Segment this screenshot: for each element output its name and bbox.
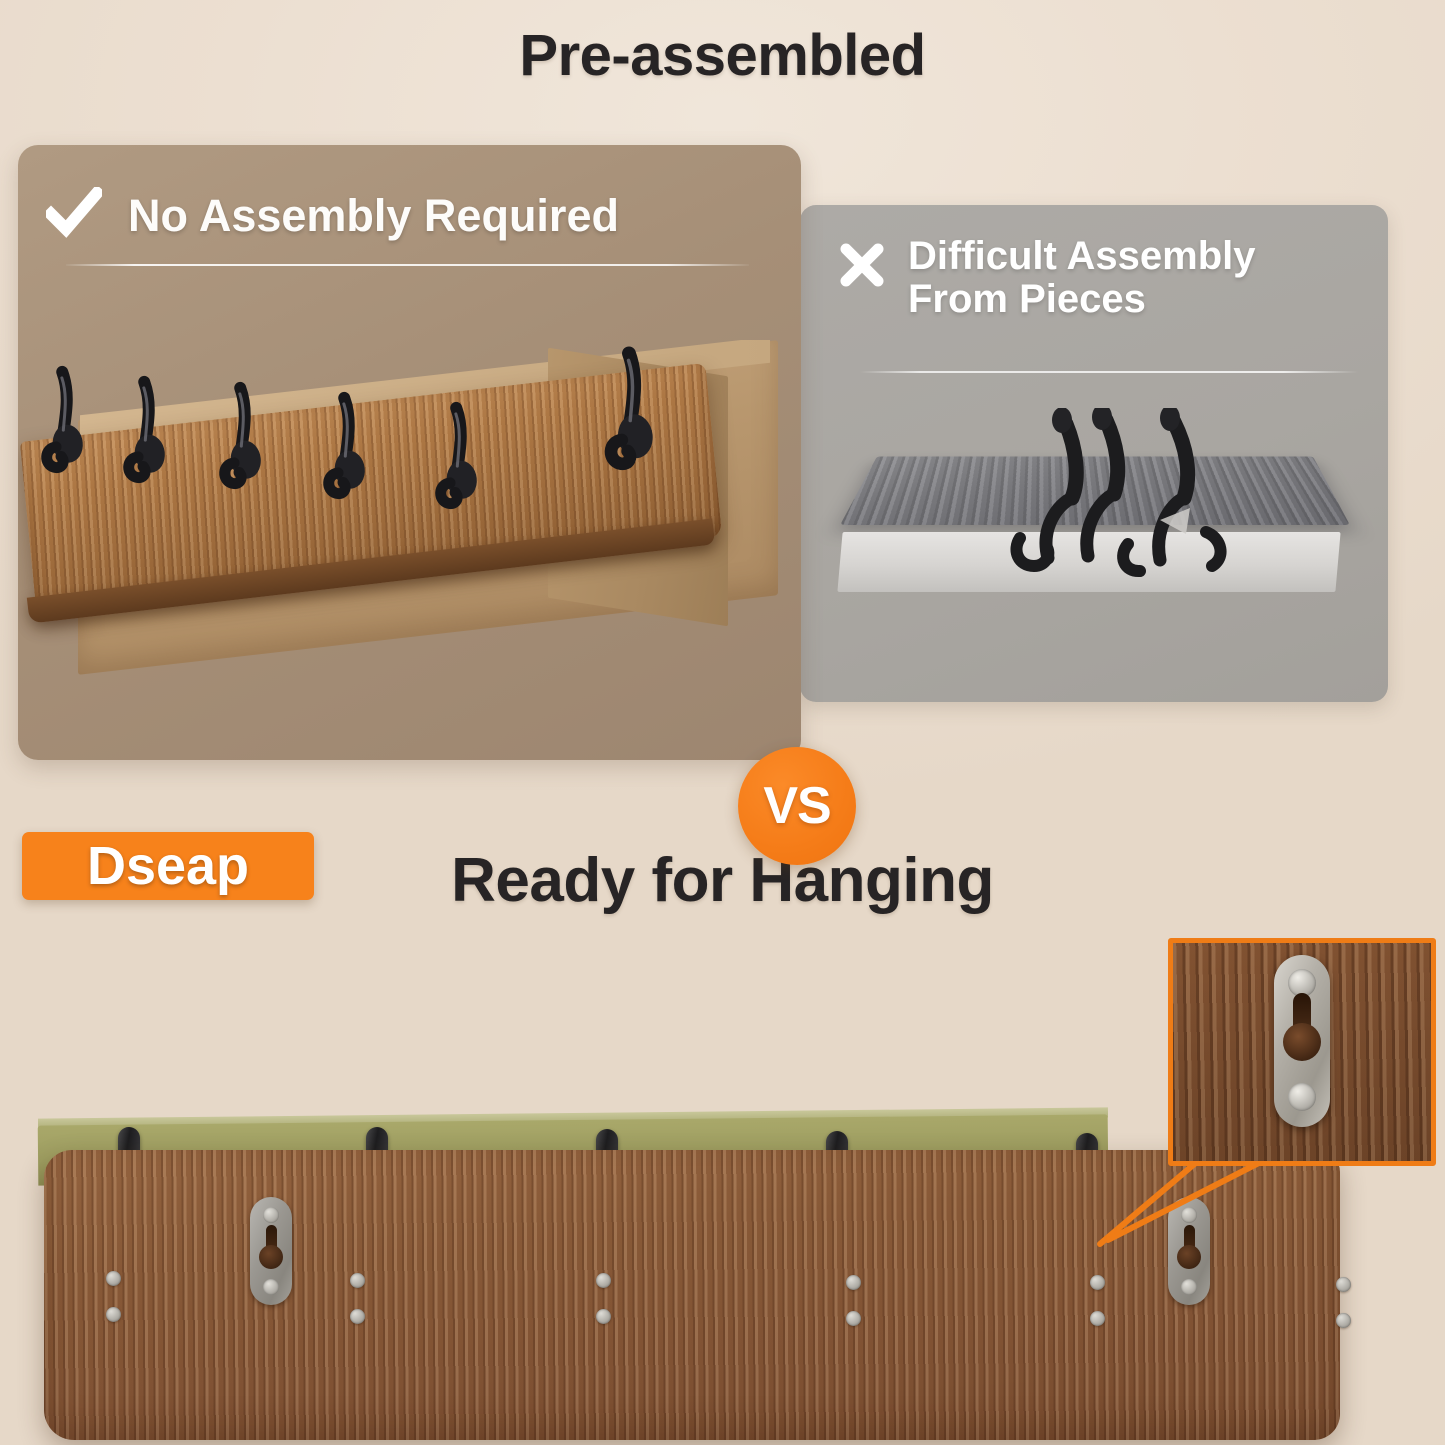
- badge-dseap: Dseap: [22, 832, 314, 900]
- mounting-screw: [846, 1275, 861, 1290]
- photo-preassembled-rack: [18, 340, 801, 760]
- dseap-panel-label: No Assembly Required: [128, 192, 619, 239]
- comparison-panel-other: Difficult AssemblyFrom Pieces: [800, 205, 1388, 702]
- dseap-panel-divider: [66, 264, 749, 266]
- mounting-screw: [596, 1309, 611, 1324]
- x-icon: [838, 235, 886, 294]
- inset-slot-wide: [1283, 1023, 1321, 1061]
- keyhole-screw-top: [263, 1207, 279, 1223]
- loose-hooks-pile: [1010, 408, 1260, 578]
- other-panel-label: Difficult AssemblyFrom Pieces: [908, 235, 1255, 321]
- mounting-screw: [350, 1309, 365, 1324]
- inset-keyhole-plate: [1274, 955, 1330, 1127]
- dseap-panel-header: No Assembly Required: [46, 187, 619, 244]
- mounting-screw: [1090, 1311, 1105, 1326]
- mounting-screw: [106, 1271, 121, 1286]
- mounting-screw: [350, 1273, 365, 1288]
- mounting-screw: [1090, 1275, 1105, 1290]
- keyhole-slot-wide: [259, 1245, 283, 1269]
- mounting-screw: [1336, 1277, 1351, 1292]
- inset-screw-bottom: [1288, 1083, 1316, 1111]
- photo-unassembled-hooks: [810, 380, 1388, 680]
- comparison-section: Difficult AssemblyFrom Pieces: [0, 140, 1445, 780]
- keyhole-detail-inset: [1168, 938, 1436, 1166]
- mounting-screw: [106, 1307, 121, 1322]
- other-panel-header: Difficult AssemblyFrom Pieces: [838, 235, 1364, 321]
- keyhole-screw-bottom: [1181, 1279, 1197, 1295]
- page-title-pre-assembled: Pre-assembled: [0, 22, 1445, 89]
- comparison-panel-dseap: No Assembly Required: [18, 145, 801, 760]
- other-panel-divider: [860, 371, 1358, 373]
- check-icon: [46, 187, 102, 244]
- vs-badge: VS: [738, 747, 856, 865]
- mounting-screw: [1336, 1313, 1351, 1328]
- other-label-line2: From Pieces: [908, 277, 1146, 321]
- other-label-line1: Difficult Assembly: [908, 234, 1255, 278]
- mounting-screw: [846, 1311, 861, 1326]
- mounting-screw: [596, 1273, 611, 1288]
- keyhole-screw-bottom: [263, 1279, 279, 1295]
- keyhole-plate-left: [250, 1197, 292, 1305]
- infographic-page: Pre-assembled Difficult AssemblyFrom Pie…: [0, 0, 1445, 1445]
